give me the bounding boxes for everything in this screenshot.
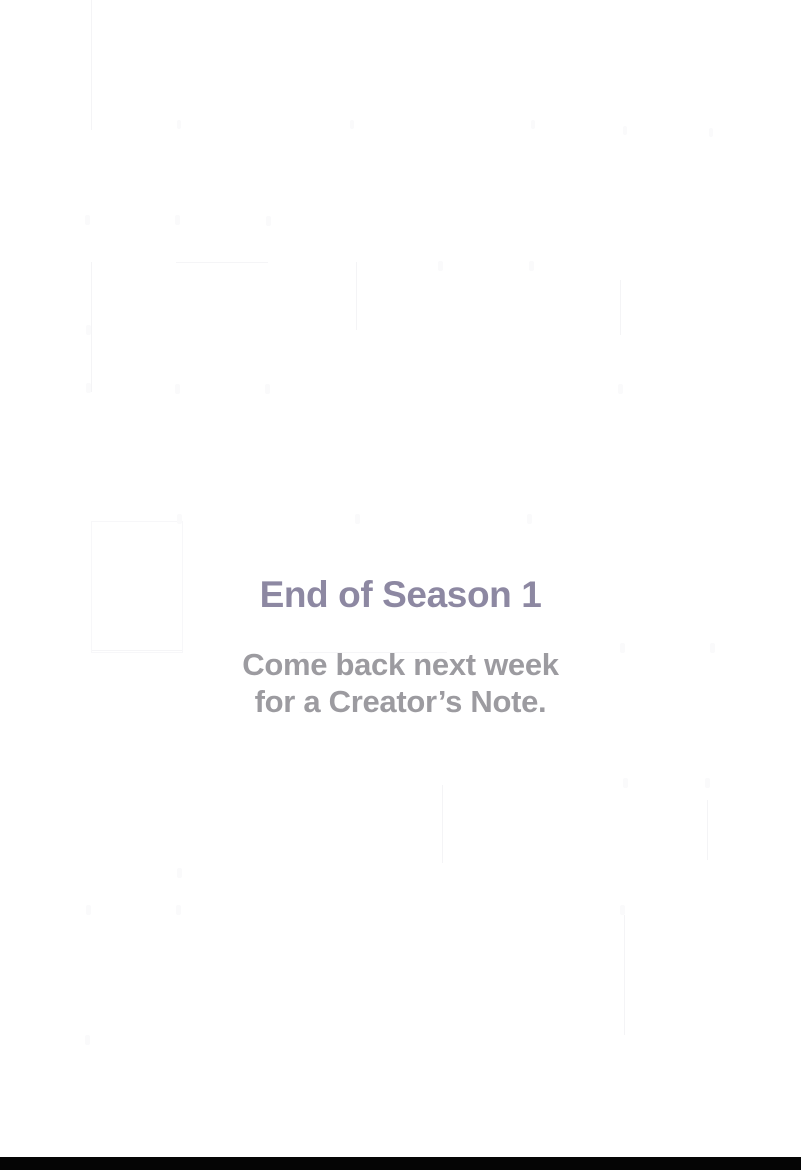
- ghost-line-vertical: [91, 0, 92, 130]
- ghost-mark: [177, 868, 182, 878]
- ghost-mark: [175, 384, 180, 394]
- end-card-page: End of Season 1 Come back next week for …: [0, 0, 801, 1170]
- ghost-mark: [177, 120, 181, 129]
- season-title: End of Season 1: [0, 572, 801, 618]
- ghost-mark: [86, 325, 91, 335]
- ghost-line-vertical: [91, 262, 92, 392]
- end-of-season-message: End of Season 1 Come back next week for …: [0, 572, 801, 720]
- ghost-line-vertical: [442, 785, 443, 863]
- ghost-mark: [527, 514, 532, 524]
- ghost-mark: [529, 261, 534, 271]
- creator-note-line-2: for a Creator’s Note.: [0, 683, 801, 720]
- creator-note-message: Come back next week for a Creator’s Note…: [0, 618, 801, 720]
- ghost-mark: [177, 514, 182, 524]
- ghost-mark: [86, 383, 91, 393]
- ghost-line-vertical: [624, 915, 625, 1035]
- ghost-mark: [623, 778, 628, 788]
- ghost-mark: [266, 216, 271, 226]
- ghost-line-vertical: [620, 280, 621, 335]
- ghost-mark: [618, 384, 623, 394]
- ghost-mark: [85, 215, 90, 225]
- creator-note-line-1: Come back next week: [0, 646, 801, 683]
- ghost-mark: [355, 514, 360, 524]
- ghost-mark: [709, 128, 713, 137]
- ghost-mark: [620, 905, 625, 915]
- ghost-mark: [175, 215, 180, 225]
- ghost-mark: [705, 778, 710, 788]
- ghost-mark: [265, 384, 270, 394]
- ghost-mark: [176, 905, 181, 915]
- ghost-mark: [85, 1035, 90, 1045]
- ghost-mark: [531, 120, 535, 129]
- ghost-line-vertical: [356, 262, 357, 330]
- ghost-mark: [86, 905, 91, 915]
- ghost-mark: [438, 261, 443, 271]
- ghost-mark: [623, 126, 627, 135]
- ghost-line-vertical: [707, 800, 708, 860]
- ghost-mark: [350, 120, 354, 129]
- ghost-line-horizontal: [176, 262, 268, 263]
- bottom-black-bar: [0, 1157, 801, 1170]
